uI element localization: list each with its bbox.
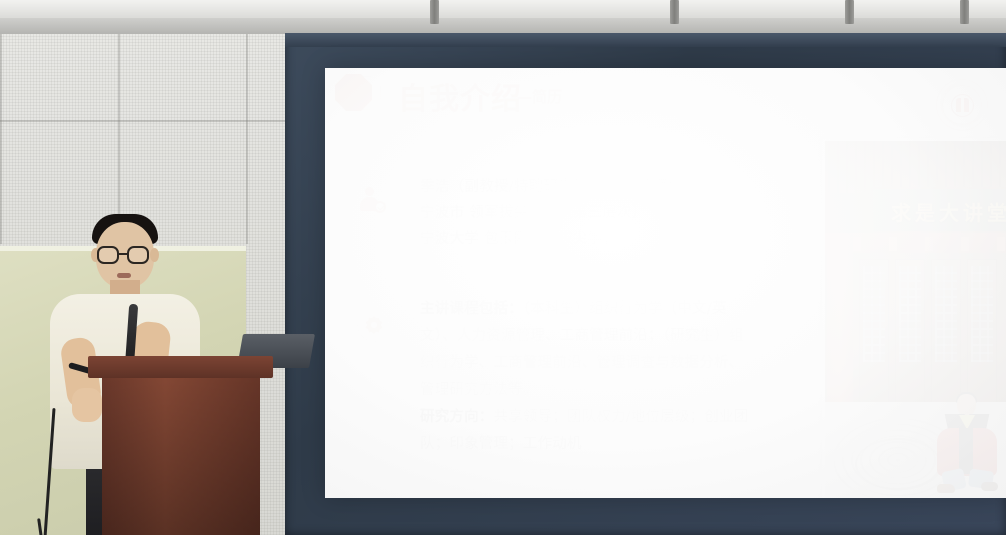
lecture-hall-scene: 自我介绍 —简历 季浩（副教授/特聘研究员/硕士生导师） 宁波市 领军拔尖人才（… <box>0 0 1006 535</box>
eyeglasses-lens-left <box>97 246 119 264</box>
door-panel <box>967 259 997 407</box>
wall-seam <box>246 34 248 244</box>
projection-screen-surface: 自我介绍 —简历 季浩（副教授/特聘研究员/硕士生导师） 宁波市 领军拔尖人才（… <box>325 68 1006 498</box>
ceiling-strip <box>0 18 1006 34</box>
graduate-shoe-right <box>981 482 998 491</box>
door-lattice <box>935 266 957 362</box>
robe-dark-panel <box>959 428 973 474</box>
profile-line: 季浩（副教授/特聘研究员/硕士生导师） <box>420 174 840 200</box>
door-panel <box>931 259 961 407</box>
photo-inner: 求是大讲堂 <box>825 141 1006 498</box>
speaker-mouth <box>117 273 131 278</box>
speaker-ear-right <box>150 248 159 262</box>
courses-label: 主讲课程包括： <box>420 301 523 317</box>
graduation-photo: 求是大讲堂 <box>822 138 1006 498</box>
university-seal-icon <box>936 79 988 131</box>
door-lattice <box>863 266 885 362</box>
podium <box>88 356 273 535</box>
projection-screen-frame-top <box>285 33 1006 47</box>
podium-shadow <box>102 378 260 535</box>
gear-center-dot <box>371 322 377 328</box>
research-label: 研究方向： <box>420 409 494 425</box>
slide-subtitle: —简历 <box>517 86 562 107</box>
door-panel <box>895 259 925 407</box>
wall-seam <box>0 34 2 244</box>
door-panel <box>859 259 889 407</box>
door-lattice <box>971 266 993 362</box>
eyeglasses-bridge <box>119 253 127 255</box>
door-lattice <box>899 266 921 362</box>
profile-info-block: 季浩（副教授/特聘研究员/硕士生导师） 宁波市 领军拔尖人才（第三层次） 宁波大… <box>420 174 840 252</box>
ceiling-rod <box>430 0 439 24</box>
slide-title: 自我介绍 <box>398 74 522 118</box>
seal-gate-glyph <box>956 98 969 112</box>
ceiling-rod <box>960 0 969 24</box>
wall-seam <box>118 34 120 244</box>
graduate-shoe-left <box>937 484 955 493</box>
verified-badge <box>374 201 386 213</box>
person-verified-icon <box>358 186 388 216</box>
graduate-figure <box>929 394 1003 498</box>
ceiling-rod <box>845 0 854 24</box>
graduate-head <box>957 394 976 416</box>
ceiling-rod <box>670 0 679 24</box>
wooden-doors <box>853 253 1006 413</box>
plaque-text: 求是大讲堂 <box>873 197 1006 226</box>
profile-line: 宁波大学 包玉刚青年拔尖学者 <box>420 226 840 252</box>
profile-line: 宁波市 领军拔尖人才（第三层次） <box>420 200 840 226</box>
wall-seam <box>0 120 300 122</box>
gear-cycle-icon <box>357 308 391 342</box>
eyeglasses-lens-right <box>127 246 149 264</box>
red-column-left <box>827 233 853 413</box>
person-head <box>365 187 374 196</box>
slide: 自我介绍 —简历 季浩（副教授/特聘研究员/硕士生导师） 宁波市 领军拔尖人才（… <box>325 68 1006 498</box>
details-block: 主讲课程包括：（本科生）组织行为学（中文/英文）、人力资源管理、工商管理前沿；（… <box>420 296 750 458</box>
hall-plaque: 求是大讲堂 <box>871 187 1006 233</box>
courses-paragraph: 主讲课程包括：（本科生）组织行为学（中文/英文）、人力资源管理、工商管理前沿；（… <box>420 296 750 404</box>
research-paragraph: 研究方向：共享领导；团队权力/地位层级；创业团队；印象管理；工作动机 <box>420 404 750 458</box>
roof-tiles <box>825 141 1006 193</box>
podium-top <box>88 356 273 378</box>
